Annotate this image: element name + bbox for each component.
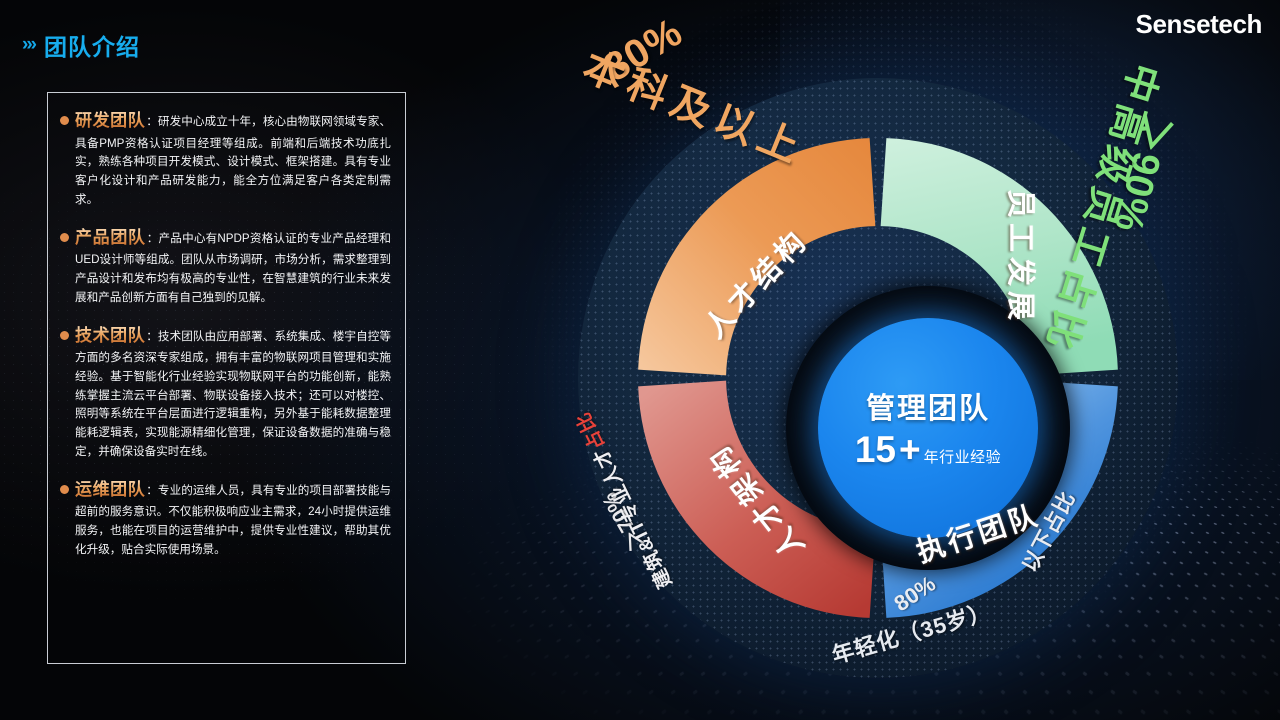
team-structure-donut-chart: 管理团队 15 + 年行业经验 人才结构 员工发展 执行团队 人才架构 80% … xyxy=(518,36,1263,720)
hub-years-value: 15 xyxy=(855,429,896,471)
team-description-panel: 研发团队：研发中心成立十年，核心由物联网领域专家、具备PMP资格认证项目经理等组… xyxy=(47,92,406,664)
team-paragraph: 技术团队：技术团队由应用部署、系统集成、楼宇自控等方面的多名资深专家组成，拥有丰… xyxy=(75,322,391,462)
team-heading: 研发团队 xyxy=(75,111,145,130)
page-title: 团队介绍 xyxy=(44,28,140,62)
team-paragraph: 运维团队：专业的运维人员，具有专业的项目部署技能与超前的服务意识。不仅能积极响应… xyxy=(75,476,391,560)
team-body: ：技术团队由应用部署、系统集成、楼宇自控等方面的多名资深专家组成，拥有丰富的物联… xyxy=(75,330,391,458)
list-item: 产品团队：产品中心有NPDP资格认证的专业产品经理和UED设计师等组成。团队从市… xyxy=(60,224,391,308)
hub-plus-sign: + xyxy=(899,429,921,471)
hub-years-unit: 年行业经验 xyxy=(924,446,1002,467)
slide-canvas: ››› 团队介绍 Sensetech 研发团队：研发中心成立十年，核心由物联网领… xyxy=(0,0,1280,720)
segment-label-staff-development: 员工发展 xyxy=(1002,189,1044,325)
team-paragraph: 研发团队：研发中心成立十年，核心由物联网领域专家、具备PMP资格认证项目经理等组… xyxy=(75,107,391,210)
hub-subtitle: 15 + 年行业经验 xyxy=(855,429,1001,471)
bullet-icon xyxy=(60,485,69,494)
chevrons-icon: ››› xyxy=(22,34,35,56)
team-heading: 产品团队 xyxy=(75,228,146,247)
hub-title: 管理团队 xyxy=(866,385,990,427)
team-heading: 运维团队 xyxy=(75,480,145,499)
bullet-icon xyxy=(60,233,69,242)
list-item: 研发团队：研发中心成立十年，核心由物联网领域专家、具备PMP资格认证项目经理等组… xyxy=(60,107,391,210)
list-item: 技术团队：技术团队由应用部署、系统集成、楼宇自控等方面的多名资深专家组成，拥有丰… xyxy=(60,322,391,462)
page-header: ››› 团队介绍 xyxy=(22,28,140,62)
team-heading: 技术团队 xyxy=(75,326,145,345)
bullet-icon xyxy=(60,331,69,340)
list-item: 运维团队：专业的运维人员，具有专业的项目部署技能与超前的服务意识。不仅能积极响应… xyxy=(60,476,391,560)
bullet-icon xyxy=(60,116,69,125)
team-paragraph: 产品团队：产品中心有NPDP资格认证的专业产品经理和UED设计师等组成。团队从市… xyxy=(75,224,391,308)
